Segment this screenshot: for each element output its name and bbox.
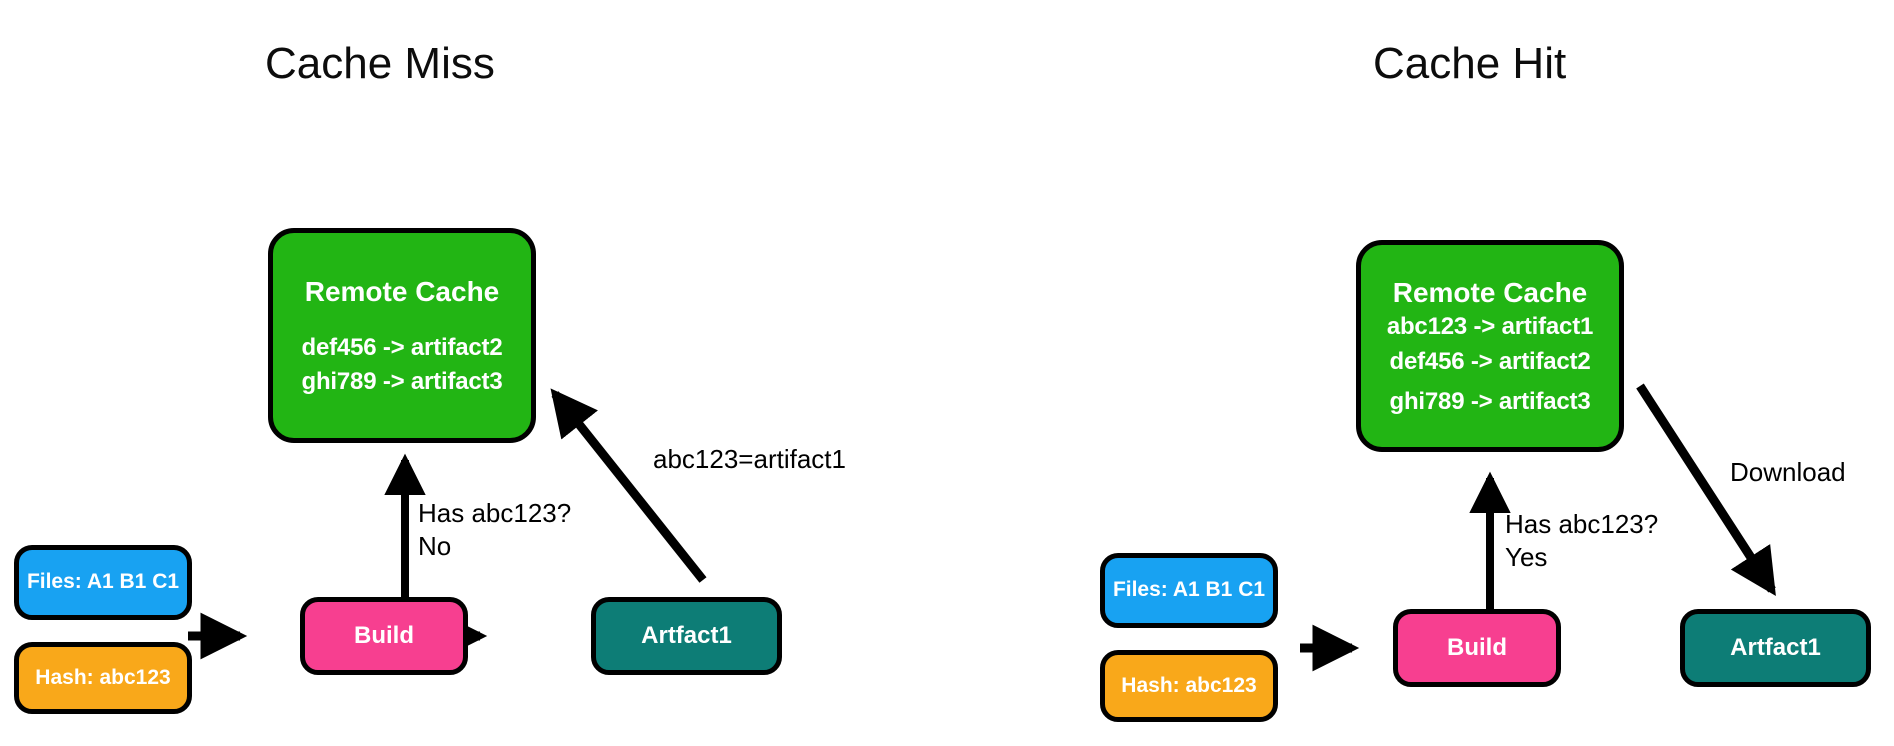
artifact-label-left: Artfact1 — [641, 622, 732, 650]
hash-label-right: Hash: abc123 — [1121, 674, 1256, 699]
hash-label-left: Hash: abc123 — [35, 666, 170, 691]
hash-box-right: Hash: abc123 — [1100, 650, 1278, 722]
build-label-right: Build — [1447, 634, 1507, 662]
files-box-right: Files: A1 B1 C1 — [1100, 553, 1278, 628]
edge-label-query-right: Has abc123? Yes — [1505, 508, 1658, 574]
edge-label-upload-left: abc123=artifact1 — [653, 443, 846, 476]
cache-entry-left-0: def456 -> artifact2 — [302, 334, 503, 362]
hash-box-left: Hash: abc123 — [14, 642, 192, 714]
files-label-right: Files: A1 B1 C1 — [1113, 578, 1265, 603]
files-label-left: Files: A1 B1 C1 — [27, 570, 179, 595]
artifact-box-left: Artfact1 — [591, 597, 782, 675]
remote-cache-title-left: Remote Cache — [305, 275, 500, 308]
files-box-left: Files: A1 B1 C1 — [14, 545, 192, 620]
remote-cache-box-right: Remote Cache abc123 -> artifact1 def456 … — [1356, 240, 1624, 452]
build-box-right: Build — [1393, 609, 1561, 687]
remote-cache-title-right: Remote Cache — [1393, 276, 1588, 309]
panel-title-cache-hit: Cache Hit — [1373, 42, 1566, 86]
panel-title-cache-miss: Cache Miss — [265, 42, 495, 86]
diagram-canvas: Cache Miss Remote Cache def456 -> artifa… — [0, 0, 1894, 746]
cache-entry-left-1: ghi789 -> artifact3 — [302, 368, 503, 396]
cache-entry-right-1: def456 -> artifact2 — [1390, 348, 1591, 376]
arrow-artifact-to-cache-left — [555, 394, 703, 580]
artifact-label-right: Artfact1 — [1730, 634, 1821, 662]
cache-entry-right-2: ghi789 -> artifact3 — [1390, 388, 1591, 416]
build-box-left: Build — [300, 597, 468, 675]
edge-label-download-right: Download — [1730, 456, 1846, 489]
artifact-box-right: Artfact1 — [1680, 609, 1871, 687]
edge-label-query-left: Has abc123? No — [418, 497, 571, 563]
build-label-left: Build — [354, 622, 414, 650]
remote-cache-box-left: Remote Cache def456 -> artifact2 ghi789 … — [268, 228, 536, 443]
cache-entry-right-0: abc123 -> artifact1 — [1387, 313, 1593, 341]
